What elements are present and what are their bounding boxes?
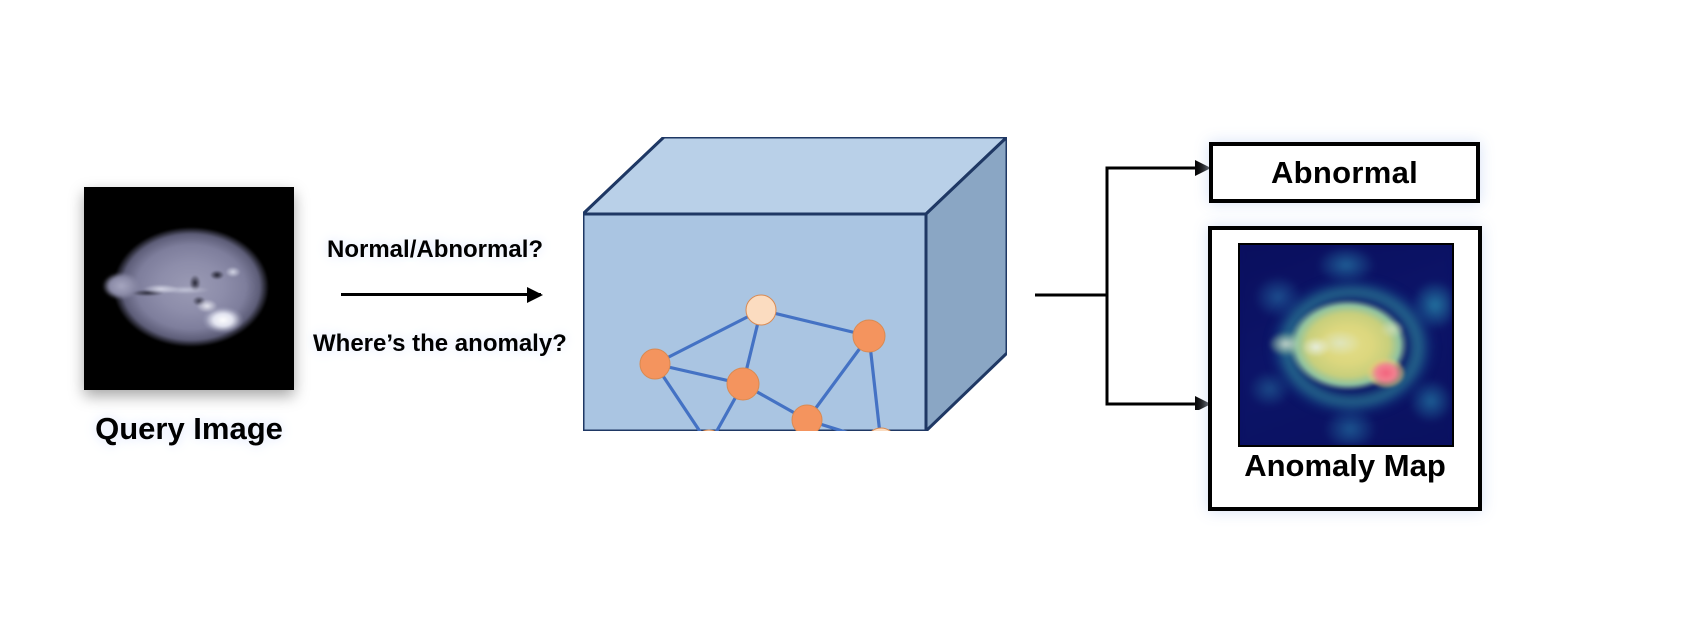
classification-result-box[interactable]: Abnormal (1209, 142, 1480, 203)
brain-mri-slice-icon (111, 223, 269, 353)
query-image (84, 187, 294, 390)
graph-node (792, 405, 822, 431)
model-box-svg (583, 137, 1007, 431)
heatmap-brain-overlay (1276, 285, 1428, 409)
arrow-head-icon (527, 287, 543, 303)
query-image-caption: Query Image (84, 411, 294, 447)
anomaly-map-image (1238, 243, 1454, 447)
graph-node (727, 368, 759, 400)
branch-lines (1035, 168, 1195, 404)
question-normal-abnormal: Normal/Abnormal? (327, 236, 543, 264)
diagram-canvas: Query Image Normal/Abnormal? Where’s the… (0, 0, 1683, 630)
graph-node (746, 295, 776, 325)
output-branch-connector (1035, 160, 1215, 410)
graph-node (640, 349, 670, 379)
query-image-frame (84, 187, 294, 390)
anomaly-map-panel[interactable]: Anomaly Map (1208, 226, 1482, 511)
model-box-3d (583, 137, 1007, 431)
anomaly-map-caption: Anomaly Map (1212, 448, 1478, 484)
question-where-anomaly: Where’s the anomaly? (313, 330, 567, 358)
arrow-query-to-model (341, 293, 541, 296)
graph-node (853, 320, 885, 352)
classification-result-label: Abnormal (1271, 155, 1418, 191)
